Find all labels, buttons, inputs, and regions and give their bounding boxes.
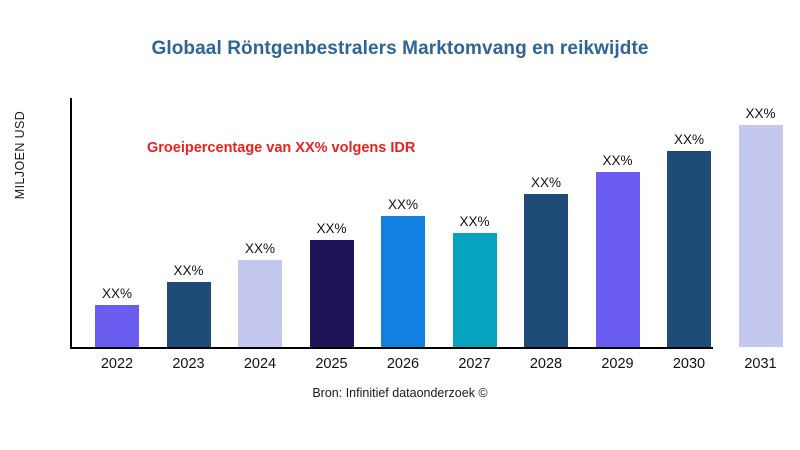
bar-2023[interactable] (167, 282, 211, 347)
x-tick-2028: 2028 (511, 356, 581, 372)
x-tick-2023: 2023 (154, 356, 224, 372)
x-tick-2024: 2024 (225, 356, 295, 372)
bar-value-label-2028: XX% (511, 175, 581, 190)
x-tick-2027: 2027 (440, 356, 510, 372)
bar-value-label-2023: XX% (154, 263, 224, 278)
bar-2029[interactable] (596, 172, 640, 347)
x-tick-2026: 2026 (368, 356, 438, 372)
bar-value-label-2031: XX% (726, 106, 796, 121)
x-tick-2030: 2030 (654, 356, 724, 372)
y-axis-line (70, 98, 72, 349)
bar-2030[interactable] (667, 151, 711, 347)
x-tick-2025: 2025 (297, 356, 367, 372)
bar-chart: Globaal Röntgenbestralers Marktomvang en… (0, 0, 800, 450)
chart-title: Globaal Röntgenbestralers Marktomvang en… (0, 38, 800, 60)
bar-value-label-2022: XX% (82, 286, 152, 301)
bar-2028[interactable] (524, 194, 568, 347)
bar-value-label-2026: XX% (368, 197, 438, 212)
bar-2022[interactable] (95, 305, 139, 347)
source-note: Bron: Infinitief dataonderzoek © (0, 386, 800, 400)
bar-value-label-2029: XX% (583, 153, 653, 168)
x-tick-2031: 2031 (726, 356, 796, 372)
bar-value-label-2027: XX% (440, 214, 510, 229)
bar-2027[interactable] (453, 233, 497, 347)
growth-rate-annotation: Groeipercentage van XX% volgens IDR (147, 140, 415, 156)
bar-2026[interactable] (381, 216, 425, 347)
x-tick-2022: 2022 (82, 356, 152, 372)
bar-2025[interactable] (310, 240, 354, 347)
y-axis-label: MILJOEN USD (13, 75, 27, 235)
bar-value-label-2030: XX% (654, 132, 724, 147)
bar-2031[interactable] (739, 125, 783, 347)
bar-value-label-2024: XX% (225, 241, 295, 256)
x-tick-2029: 2029 (583, 356, 653, 372)
bar-2024[interactable] (238, 260, 282, 347)
bar-value-label-2025: XX% (297, 221, 367, 236)
plot-area: Groeipercentage van XX% volgens IDR XX%X… (70, 98, 782, 349)
x-axis-line (70, 347, 713, 349)
